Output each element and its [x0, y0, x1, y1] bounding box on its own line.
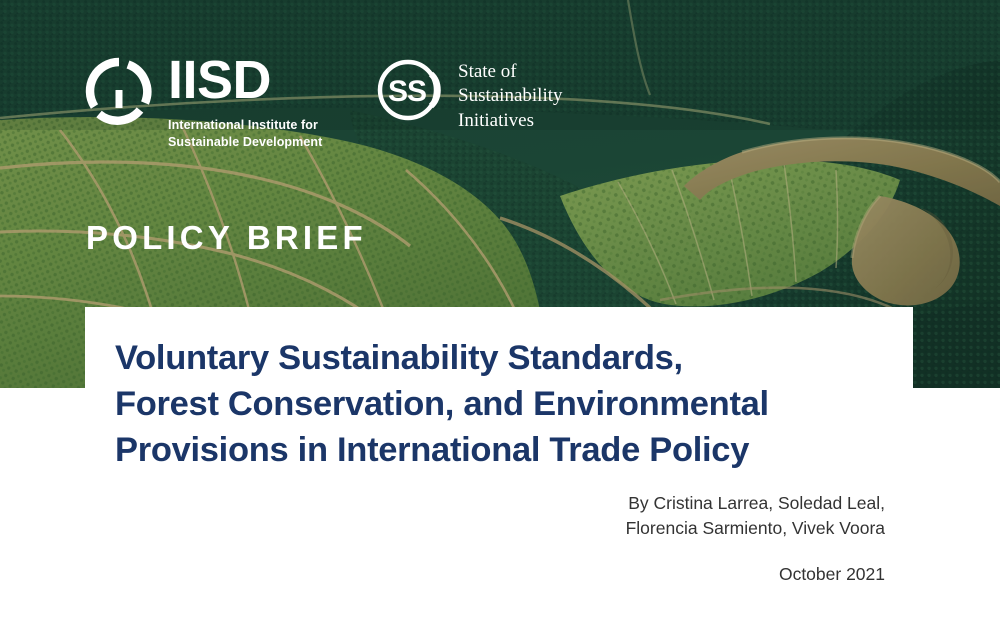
ssi-name: State of Sustainability Initiatives: [458, 60, 563, 133]
byline-block: By Cristina Larrea, Soledad Leal, Floren…: [626, 491, 885, 587]
publication-date: October 2021: [626, 562, 885, 587]
iisd-logo: IISD International Institute for Sustain…: [84, 52, 322, 151]
iisd-text-column: IISD International Institute for Sustain…: [168, 52, 322, 151]
iisd-tagline: International Institute for Sustainable …: [168, 117, 322, 152]
policy-brief-cover: IISD International Institute for Sustain…: [0, 0, 1000, 620]
iisd-circle-mark-icon: [84, 56, 154, 126]
ssi-circle-mark-icon: SS: [374, 54, 446, 126]
logo-bar: IISD International Institute for Sustain…: [84, 52, 322, 151]
ssi-logo: SS State of Sustainability Initiatives: [374, 54, 563, 133]
title-panel: Voluntary Sustainability Standards, Fore…: [85, 307, 913, 500]
svg-text:SS: SS: [388, 75, 426, 108]
page-title: Voluntary Sustainability Standards, Fore…: [85, 307, 913, 500]
policy-brief-kicker: POLICY BRIEF: [86, 221, 367, 254]
iisd-wordmark: IISD: [168, 54, 322, 107]
authors: By Cristina Larrea, Soledad Leal, Floren…: [626, 491, 885, 542]
